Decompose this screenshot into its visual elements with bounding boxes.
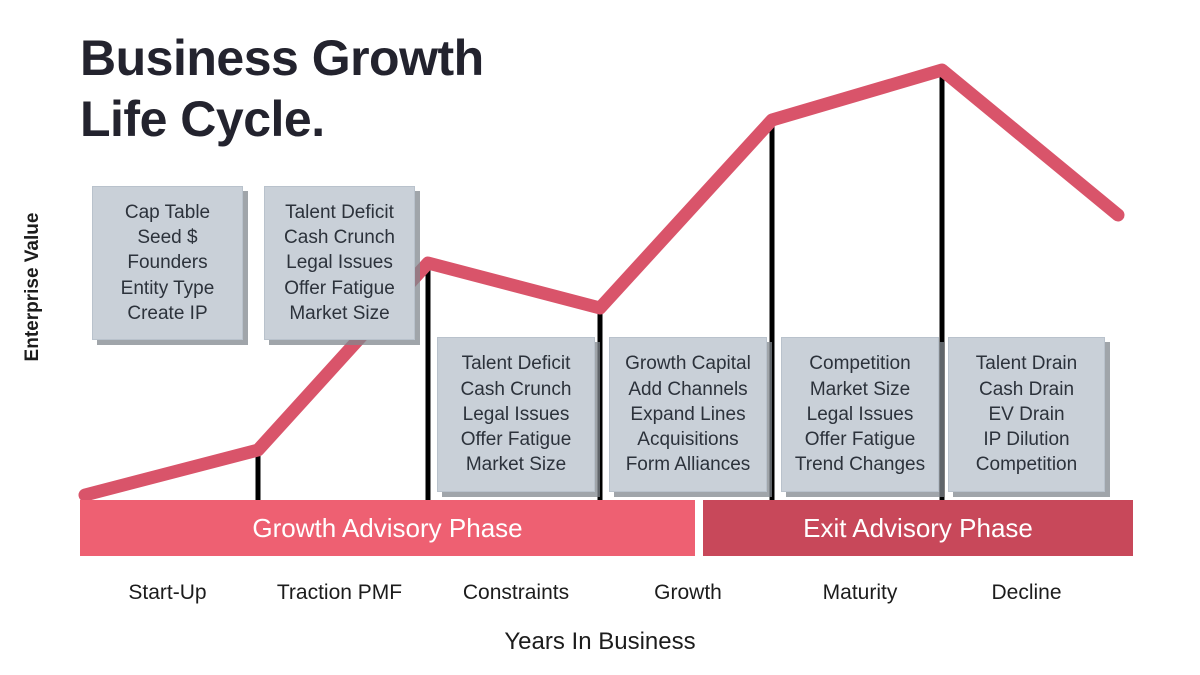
x-axis-label: Years In Business xyxy=(0,628,1200,656)
info-box-item: Founders xyxy=(127,250,207,275)
info-box-item: Offer Fatigue xyxy=(461,427,572,452)
stage-label-growth: Growth xyxy=(609,581,767,605)
diagram-canvas: Business Growth Life Cycle. Enterprise V… xyxy=(0,0,1200,675)
info-box-decline[interactable]: Talent DrainCash DrainEV DrainIP Dilutio… xyxy=(948,337,1105,492)
info-box-item: Competition xyxy=(809,351,910,376)
info-box-item: IP Dilution xyxy=(983,427,1069,452)
info-box-item: Cap Table xyxy=(125,200,210,225)
info-box-item: Talent Drain xyxy=(976,351,1077,376)
info-box-item: Offer Fatigue xyxy=(284,276,395,301)
info-box-startup[interactable]: Cap TableSeed $FoundersEntity TypeCreate… xyxy=(92,186,243,340)
info-box-item: EV Drain xyxy=(988,402,1064,427)
info-box-constraints[interactable]: Talent DeficitCash CrunchLegal IssuesOff… xyxy=(437,337,595,492)
info-box-item: Legal Issues xyxy=(463,402,570,427)
info-box-item: Legal Issues xyxy=(286,250,393,275)
info-box-item: Trend Changes xyxy=(795,452,925,477)
info-box-maturity[interactable]: CompetitionMarket SizeLegal IssuesOffer … xyxy=(781,337,939,492)
info-box-item: Add Channels xyxy=(628,377,747,402)
phase-bar-growth-advisory[interactable]: Growth Advisory Phase xyxy=(80,500,695,556)
stage-label-constraints: Constraints xyxy=(437,581,595,605)
info-box-item: Talent Deficit xyxy=(462,351,571,376)
info-box-item: Form Alliances xyxy=(626,452,751,477)
info-box-traction[interactable]: Talent DeficitCash CrunchLegal IssuesOff… xyxy=(264,186,415,340)
stage-label-decline: Decline xyxy=(948,581,1105,605)
info-box-item: Offer Fatigue xyxy=(805,427,916,452)
info-box-item: Expand Lines xyxy=(630,402,745,427)
phase-bar-growth-label: Growth Advisory Phase xyxy=(252,513,522,544)
info-box-item: Cash Crunch xyxy=(284,225,395,250)
info-box-item: Talent Deficit xyxy=(285,200,394,225)
info-box-item: Legal Issues xyxy=(807,402,914,427)
info-box-item: Market Size xyxy=(289,301,389,326)
info-box-item: Cash Crunch xyxy=(461,377,572,402)
info-box-item: Entity Type xyxy=(121,276,215,301)
info-box-item: Create IP xyxy=(127,301,207,326)
stage-label-start-up: Start-Up xyxy=(92,581,243,605)
info-box-growth[interactable]: Growth CapitalAdd ChannelsExpand LinesAc… xyxy=(609,337,767,492)
stage-label-maturity: Maturity xyxy=(781,581,939,605)
info-box-item: Competition xyxy=(976,452,1077,477)
phase-bar-exit-label: Exit Advisory Phase xyxy=(803,513,1033,544)
info-box-item: Market Size xyxy=(466,452,566,477)
info-box-item: Growth Capital xyxy=(625,351,751,376)
phase-bar-exit-advisory[interactable]: Exit Advisory Phase xyxy=(703,500,1133,556)
stage-label-traction-pmf: Traction PMF xyxy=(264,581,415,605)
info-box-item: Cash Drain xyxy=(979,377,1074,402)
info-box-item: Acquisitions xyxy=(637,427,738,452)
info-box-item: Seed $ xyxy=(137,225,197,250)
info-box-item: Market Size xyxy=(810,377,910,402)
